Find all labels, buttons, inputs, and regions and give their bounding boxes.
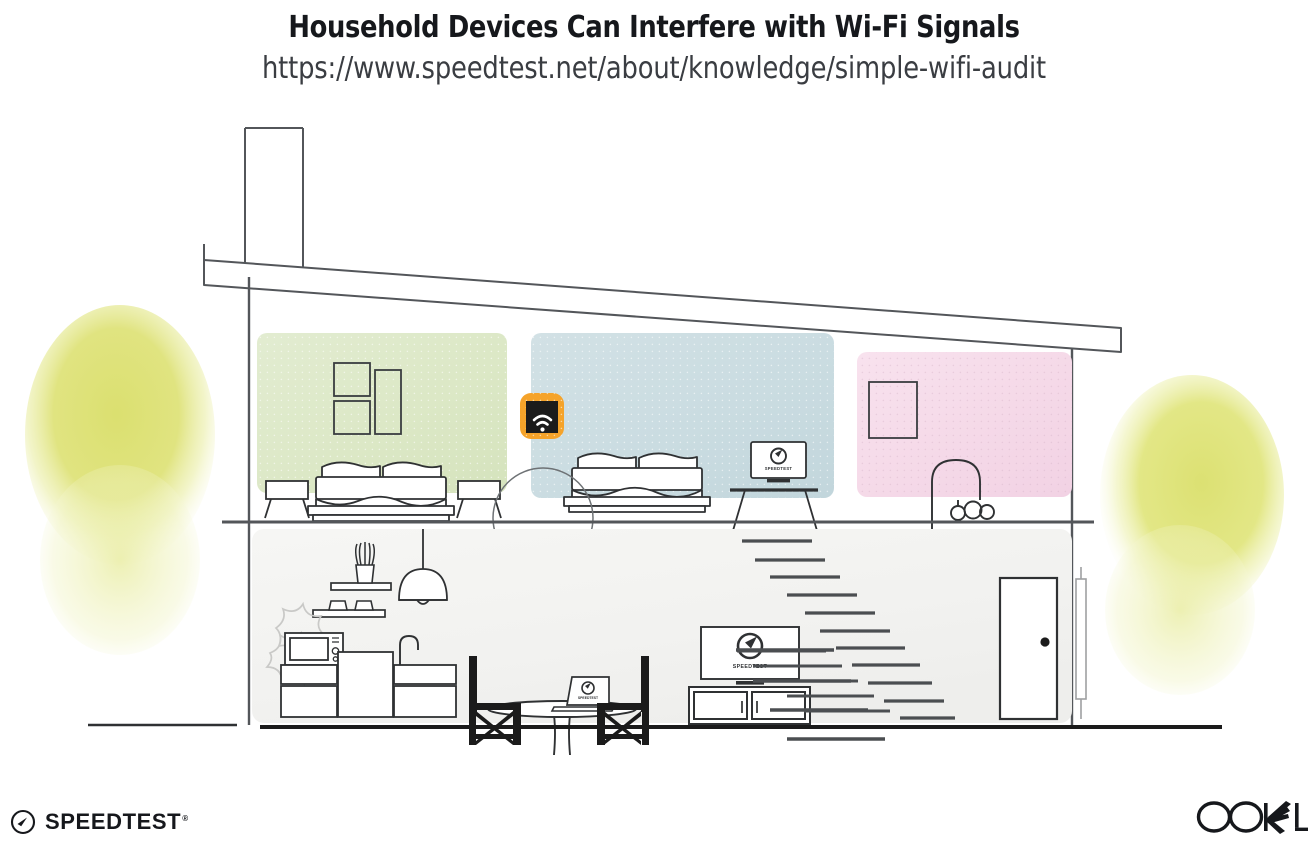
monitor-brand-label: SPEEDTEST [765,466,793,471]
desktop-monitor: SPEEDTEST [751,442,806,482]
house-cutaway-illustration: SPEEDTEST [0,105,1308,755]
bowl-right [355,601,373,610]
source-url: https://www.speedtest.net/about/knowledg… [92,51,1217,86]
media-console [689,687,810,724]
speedtest-logo: SPEEDTEST® [10,809,189,835]
speedtest-wordmark-text: SPEEDTEST [45,809,181,834]
room-bedroom-green [257,333,507,521]
narrow-window [1076,567,1086,719]
ground-line [88,725,1222,727]
header: Household Devices Can Interfere with Wi-… [0,0,1308,86]
footer: SPEEDTEST® ® [0,771,1308,861]
microwave [285,633,343,665]
foliage-right [1100,375,1284,695]
foliage-left [25,305,215,655]
nightstand-left-green [265,481,309,518]
ookla-wordmark-icon: ® [1194,795,1308,839]
wall-shelf-lower [313,610,385,617]
ookla-logo: ® [1194,795,1308,839]
speedtest-wordmark: SPEEDTEST® [45,809,189,835]
door-knob[interactable] [1040,637,1049,646]
room-lower-floor: SPEEDTEST [252,529,1072,755]
laptop-brand-label: SPEEDTEST [578,696,599,700]
page-title: Household Devices Can Interfere with Wi-… [92,10,1217,45]
wifi-router-icon [520,393,564,439]
front-door[interactable] [1000,578,1057,719]
chimney [245,128,303,277]
television: SPEEDTEST [701,627,799,685]
speedtest-gauge-icon [10,809,36,835]
infographic-page: Household Devices Can Interfere with Wi-… [0,0,1308,861]
nightstand-right-green [457,481,501,518]
speedtest-trademark: ® [182,814,189,823]
wall-shelf-upper [331,583,391,590]
bowl-left [329,601,347,610]
